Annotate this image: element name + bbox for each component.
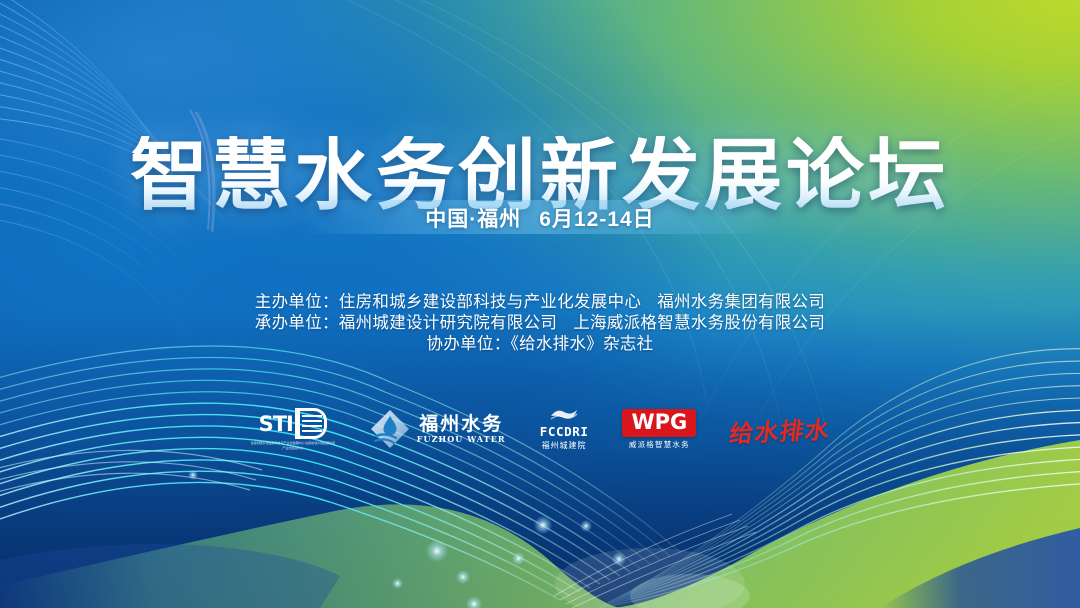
host-entity-2: 福州水务集团有限公司 [657, 293, 825, 311]
organizers-block: 主办单位：住房和城乡建设部科技与产业化发展中心福州水务集团有限公司 承办单位：福… [0, 292, 1080, 355]
undertaker-entity-1: 福州城建设计研究院有限公司 [339, 314, 557, 332]
stid-d-glyph-icon [295, 408, 327, 439]
stid-acronym: STI [259, 412, 293, 436]
stid-mark: STI [259, 408, 327, 439]
logo-fuzhou-water: 福州水务 FUZHOU WATER [370, 409, 506, 449]
title-container: 智慧水务创新发展论坛 [0, 84, 1080, 270]
host-role-label: 主办单位： [255, 293, 339, 311]
logo-stid: STI 住房和城乡建设部科技与产业化发展中心 住房和城乡建设部住宅产业化促进中心 [250, 408, 336, 450]
fuzhou-water-name-cn: 福州水务 [419, 414, 503, 434]
location-text: 中国·福州 [425, 208, 521, 231]
water-drop-diamond-icon [370, 409, 410, 449]
fccdri-leaf-icon [549, 408, 579, 423]
coorganizer-entity-1: 《给水排水》杂志社 [511, 335, 654, 353]
organizer-line-coorganizer: 协办单位：《给水排水》杂志社 [0, 334, 1080, 355]
wpg-acronym: WPG [631, 411, 687, 434]
conference-poster: 智慧水务创新发展论坛 中国·福州6月12-14日 主办单位：住房和城乡建设部科技… [0, 0, 1080, 608]
subtitle-line: 中国·福州6月12-14日 [0, 203, 1080, 233]
logo-gsps: 给水排水 [730, 412, 830, 447]
undertaker-role-label: 承办单位： [255, 314, 339, 332]
host-entity-1: 住房和城乡建设部科技与产业化发展中心 [339, 293, 641, 311]
sponsor-logo-row: STI 住房和城乡建设部科技与产业化发展中心 住房和城乡建设部住宅产业化促进中心 [0, 398, 1080, 460]
logo-fccdri: FCCDRI 福州城建院 [540, 408, 589, 451]
gsps-name-cn: 给水排水 [728, 409, 833, 448]
fuzhou-water-name-en: FUZHOU WATER [417, 434, 506, 445]
undertaker-entity-2: 上海威派格智慧水务股份有限公司 [573, 314, 825, 332]
fuzhou-water-wordmark: 福州水务 FUZHOU WATER [417, 414, 506, 445]
dates-text: 6月12-14日 [539, 208, 654, 231]
wpg-red-badge: WPG [622, 409, 696, 437]
fccdri-name-cn: 福州城建院 [542, 440, 587, 451]
stid-caption: 住房和城乡建设部科技与产业化发展中心 住房和城乡建设部住宅产业化促进中心 [250, 441, 336, 450]
fccdri-acronym: FCCDRI [540, 424, 589, 439]
logo-wpg: WPG 威派格智慧水务 [622, 409, 696, 450]
coorganizer-role-label: 协办单位： [427, 335, 511, 353]
organizer-line-host: 主办单位：住房和城乡建设部科技与产业化发展中心福州水务集团有限公司 [0, 292, 1080, 313]
organizer-line-undertaker: 承办单位：福州城建设计研究院有限公司上海威派格智慧水务股份有限公司 [0, 313, 1080, 334]
wpg-name-cn: 威派格智慧水务 [629, 439, 690, 450]
